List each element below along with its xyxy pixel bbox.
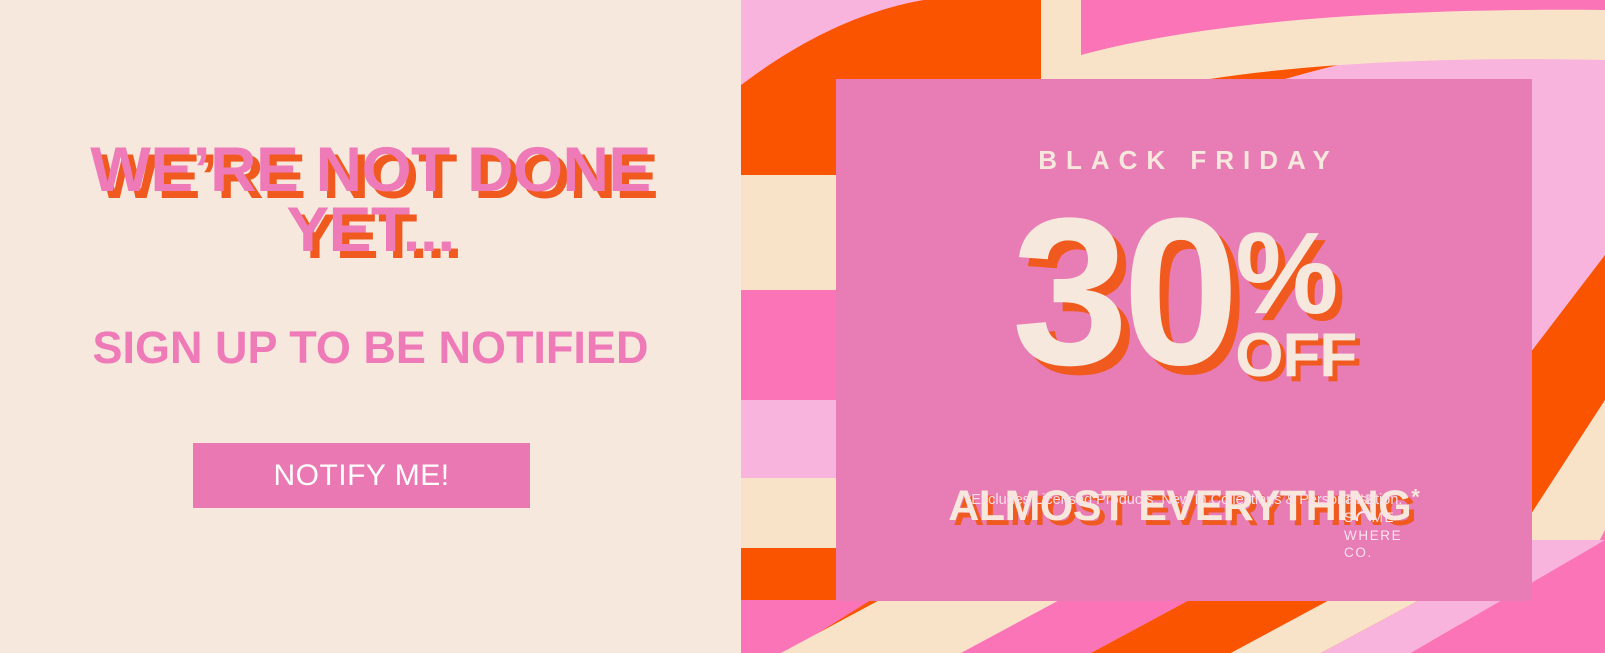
off-label: OFF <box>1235 327 1356 386</box>
arch-icon <box>1356 511 1371 521</box>
offer-panel: BLACK FRIDAY 30%OFF ALMOST EVERYTHING* *… <box>741 0 1605 653</box>
logo-some-prefix: S <box>1344 510 1355 525</box>
percent-sign: % <box>1235 221 1356 325</box>
notify-me-button[interactable]: NOTIFY ME! <box>193 443 530 508</box>
discount-headline: 30%OFF <box>836 195 1532 388</box>
signup-panel: WE’RE NOT DONE YET... SIGN UP TO BE NOTI… <box>0 0 741 653</box>
promo-banner: WE’RE NOT DONE YET... SIGN UP TO BE NOTI… <box>0 0 1605 653</box>
logo-some-suffix: ME <box>1372 510 1395 525</box>
logo-line-where: WHERE <box>1344 527 1410 545</box>
discount-number: 30 <box>1012 195 1234 388</box>
brand-logo: THE SME WHERE CO. <box>1344 491 1410 562</box>
logo-line-some: SME <box>1344 509 1410 527</box>
offer-card: BLACK FRIDAY 30%OFF ALMOST EVERYTHING* *… <box>836 79 1532 601</box>
signup-subheading: SIGN UP TO BE NOTIFIED <box>0 322 741 374</box>
signup-content: WE’RE NOT DONE YET... SIGN UP TO BE NOTI… <box>0 0 741 653</box>
black-friday-label: BLACK FRIDAY <box>836 145 1532 176</box>
percent-off-stack: %OFF <box>1235 221 1356 388</box>
page-title: WE’RE NOT DONE YET... <box>0 140 741 261</box>
logo-line-the: THE <box>1344 491 1410 509</box>
logo-line-co: CO. <box>1344 544 1410 562</box>
